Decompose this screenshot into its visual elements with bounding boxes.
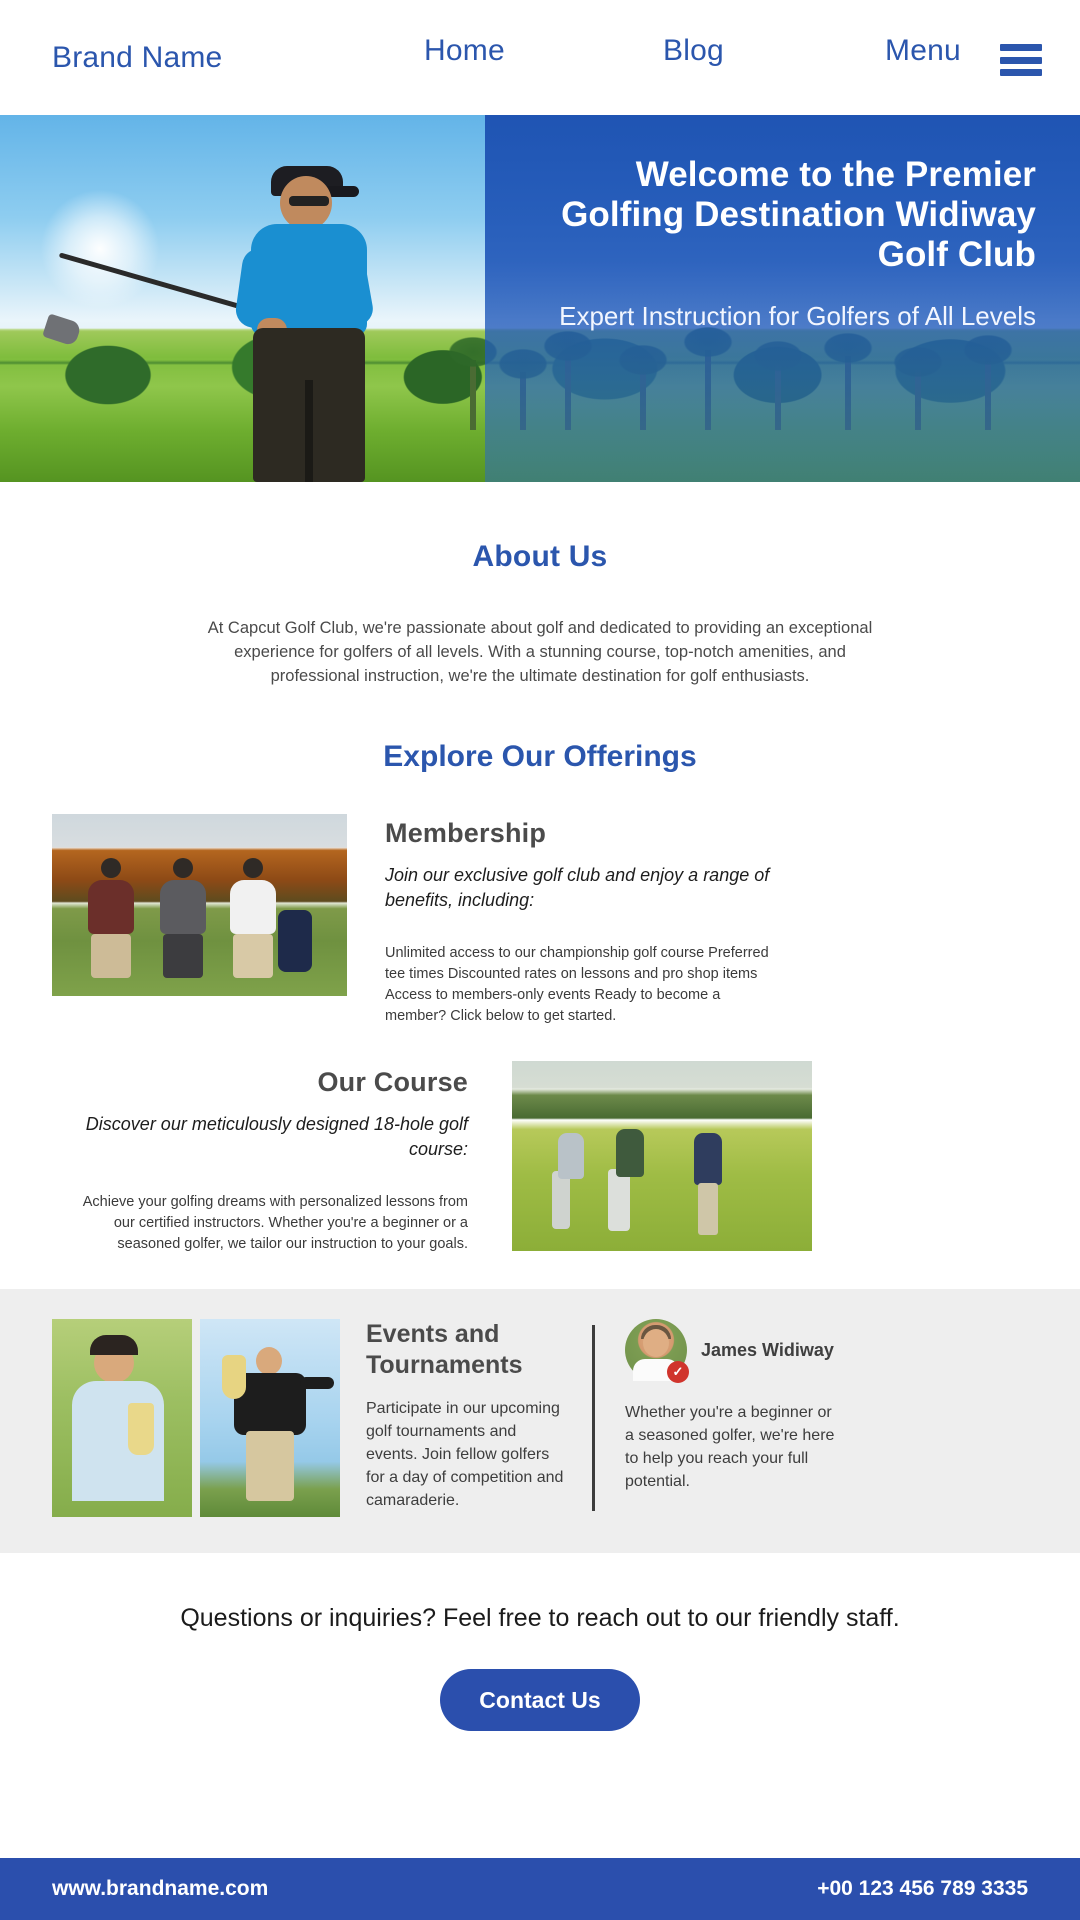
testimonial-name: James Widiway	[701, 1339, 834, 1362]
figure-arm	[300, 1377, 334, 1389]
membership-block: Membership Join our exclusive golf club …	[0, 814, 1080, 1027]
landing-page: Brand Name Home Blog Menu	[0, 0, 1080, 1920]
verified-check-icon: ✓	[667, 1361, 689, 1383]
events-section: Events and Tournaments Participate in ou…	[0, 1289, 1080, 1553]
trophy-icon	[222, 1355, 246, 1399]
golfer-figure	[160, 858, 206, 978]
course-block: Our Course Discover our meticulously des…	[0, 1061, 1080, 1255]
about-body: At Capcut Golf Club, we're passionate ab…	[204, 616, 876, 688]
events-image-1	[52, 1319, 192, 1517]
hamburger-menu-icon[interactable]	[1000, 44, 1042, 76]
about-section: About Us At Capcut Golf Club, we're pass…	[0, 482, 1080, 774]
avatar-face	[643, 1329, 669, 1357]
golfer-leg-split	[305, 380, 313, 482]
figure-legs	[91, 934, 131, 978]
sun-glow	[40, 189, 160, 309]
figure-torso	[160, 880, 206, 934]
avatar: ✓	[625, 1319, 687, 1381]
golfer-legs	[698, 1183, 718, 1235]
course-subheading: Discover our meticulously designed 18-ho…	[68, 1112, 468, 1162]
hero-text-panel: Welcome to the Premier Golfing Destinati…	[485, 115, 1080, 482]
course-heading: Our Course	[52, 1067, 468, 1098]
golfer-photo	[195, 152, 410, 482]
golfer-figure	[694, 1133, 722, 1185]
figure-torso	[88, 880, 134, 934]
membership-image	[52, 814, 347, 996]
brand-logo[interactable]: Brand Name	[52, 41, 222, 75]
offerings-title: Explore Our Offerings	[0, 740, 1080, 774]
events-text: Events and Tournaments Participate in ou…	[340, 1319, 570, 1512]
golfer-figure	[558, 1133, 584, 1179]
testimonial-quote: Whether you're a beginner or a seasoned …	[625, 1401, 845, 1493]
about-title: About Us	[0, 540, 1080, 574]
hero-title: Welcome to the Premier Golfing Destinati…	[525, 155, 1036, 275]
hamburger-bar	[1000, 44, 1042, 51]
figure-head	[173, 858, 193, 878]
golf-bag	[608, 1169, 630, 1231]
membership-text: Membership Join our exclusive golf club …	[347, 814, 785, 1027]
hero-subtitle: Expert Instruction for Golfers of All Le…	[525, 301, 1036, 331]
footer-phone[interactable]: +00 123 456 789 3335	[817, 1877, 1028, 1901]
golf-bag	[552, 1171, 570, 1229]
contact-question: Questions or inquiries? Feel free to rea…	[0, 1601, 1080, 1635]
hamburger-bar	[1000, 69, 1042, 76]
events-images	[52, 1319, 340, 1517]
trophy-icon	[128, 1403, 154, 1455]
membership-heading: Membership	[385, 818, 785, 849]
contact-section: Questions or inquiries? Feel free to rea…	[0, 1553, 1080, 1731]
figure-legs	[163, 934, 203, 978]
footer-website[interactable]: www.brandname.com	[52, 1877, 268, 1901]
membership-subheading: Join our exclusive golf club and enjoy a…	[385, 863, 785, 913]
site-footer: www.brandname.com +00 123 456 789 3335	[0, 1858, 1080, 1920]
course-text: Our Course Discover our meticulously des…	[52, 1061, 512, 1255]
golfer-figure	[88, 858, 134, 978]
golfer-sunglasses	[289, 196, 329, 206]
events-image-2	[200, 1319, 340, 1517]
site-header: Brand Name Home Blog Menu	[0, 0, 1080, 115]
golfer-figure	[616, 1129, 644, 1177]
membership-body: Unlimited access to our championship gol…	[385, 943, 775, 1027]
golfer-figure	[230, 858, 276, 978]
nav-link-menu[interactable]: Menu	[885, 34, 961, 68]
hamburger-bar	[1000, 57, 1042, 64]
golfers-group	[52, 882, 347, 978]
course-body: Achieve your golfing dreams with persona…	[78, 1192, 468, 1255]
figure-torso	[230, 880, 276, 934]
figure-head	[101, 858, 121, 878]
palm-tree	[470, 360, 476, 430]
figure-trousers	[246, 1431, 294, 1501]
nav-link-home[interactable]: Home	[424, 34, 505, 68]
hero-section: Welcome to the Premier Golfing Destinati…	[0, 115, 1080, 482]
figure-head	[256, 1347, 282, 1375]
events-body: Participate in our upcoming golf tournam…	[366, 1397, 570, 1512]
course-image	[512, 1061, 812, 1251]
figure-hair	[90, 1335, 138, 1355]
nav-link-blog[interactable]: Blog	[663, 34, 724, 68]
contact-us-button[interactable]: Contact Us	[440, 1669, 640, 1731]
golf-bag	[278, 910, 312, 972]
testimonial-header: ✓ James Widiway	[625, 1319, 845, 1381]
testimonial-card: ✓ James Widiway Whether you're a beginne…	[595, 1319, 845, 1493]
events-heading: Events and Tournaments	[366, 1319, 570, 1381]
figure-head	[243, 858, 263, 878]
figure-legs	[233, 934, 273, 978]
